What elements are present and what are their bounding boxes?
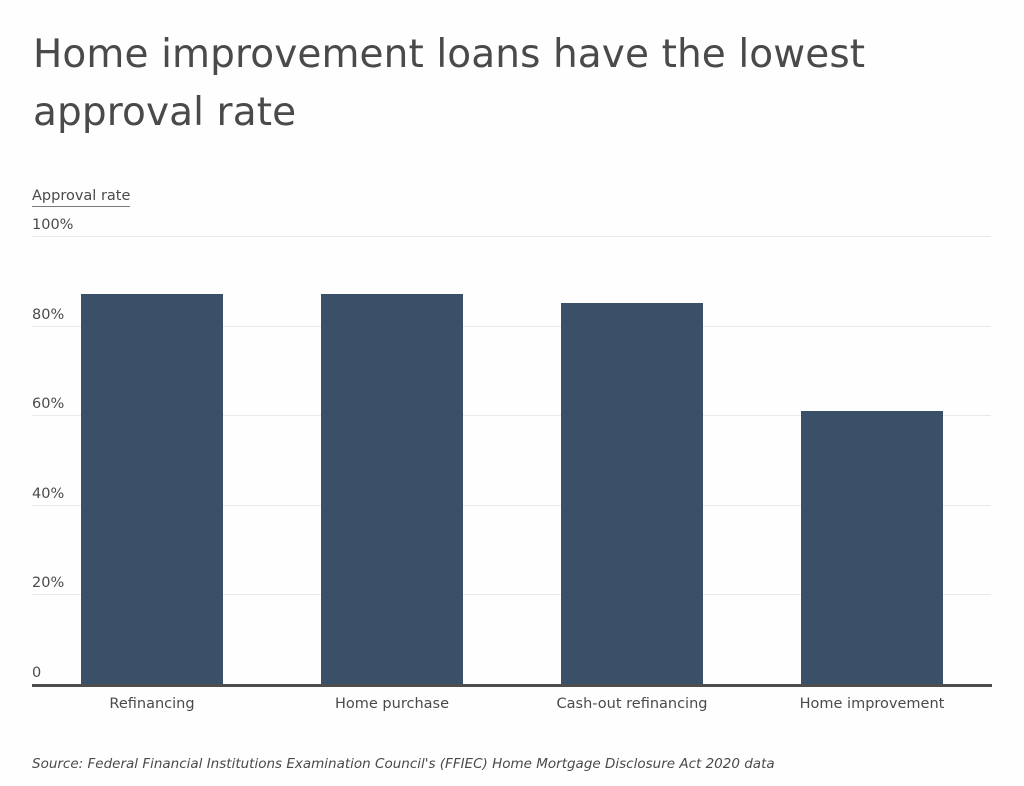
chart-page: Home improvement loans have the lowest a…: [0, 0, 1024, 786]
y-axis-caption: Approval rate: [32, 188, 130, 207]
x-axis-tick-label: Cash-out refinancing: [512, 694, 752, 714]
bar: [81, 294, 223, 684]
x-axis-tick-label: Home improvement: [752, 694, 992, 714]
page-title: Home improvement loans have the lowest a…: [33, 26, 953, 142]
x-axis-tick-labels: RefinancingHome purchaseCash-out refinan…: [32, 694, 992, 718]
x-axis-line: [32, 684, 992, 687]
x-axis-tick-label: Home purchase: [272, 694, 512, 714]
bar-series: [32, 218, 992, 684]
bar: [561, 303, 703, 684]
source-note: Source: Federal Financial Institutions E…: [32, 756, 775, 772]
bar: [801, 411, 943, 684]
plot-area: 020%40%60%80%100%: [32, 218, 992, 688]
x-axis-tick-label: Refinancing: [32, 694, 272, 714]
bar: [321, 294, 463, 684]
